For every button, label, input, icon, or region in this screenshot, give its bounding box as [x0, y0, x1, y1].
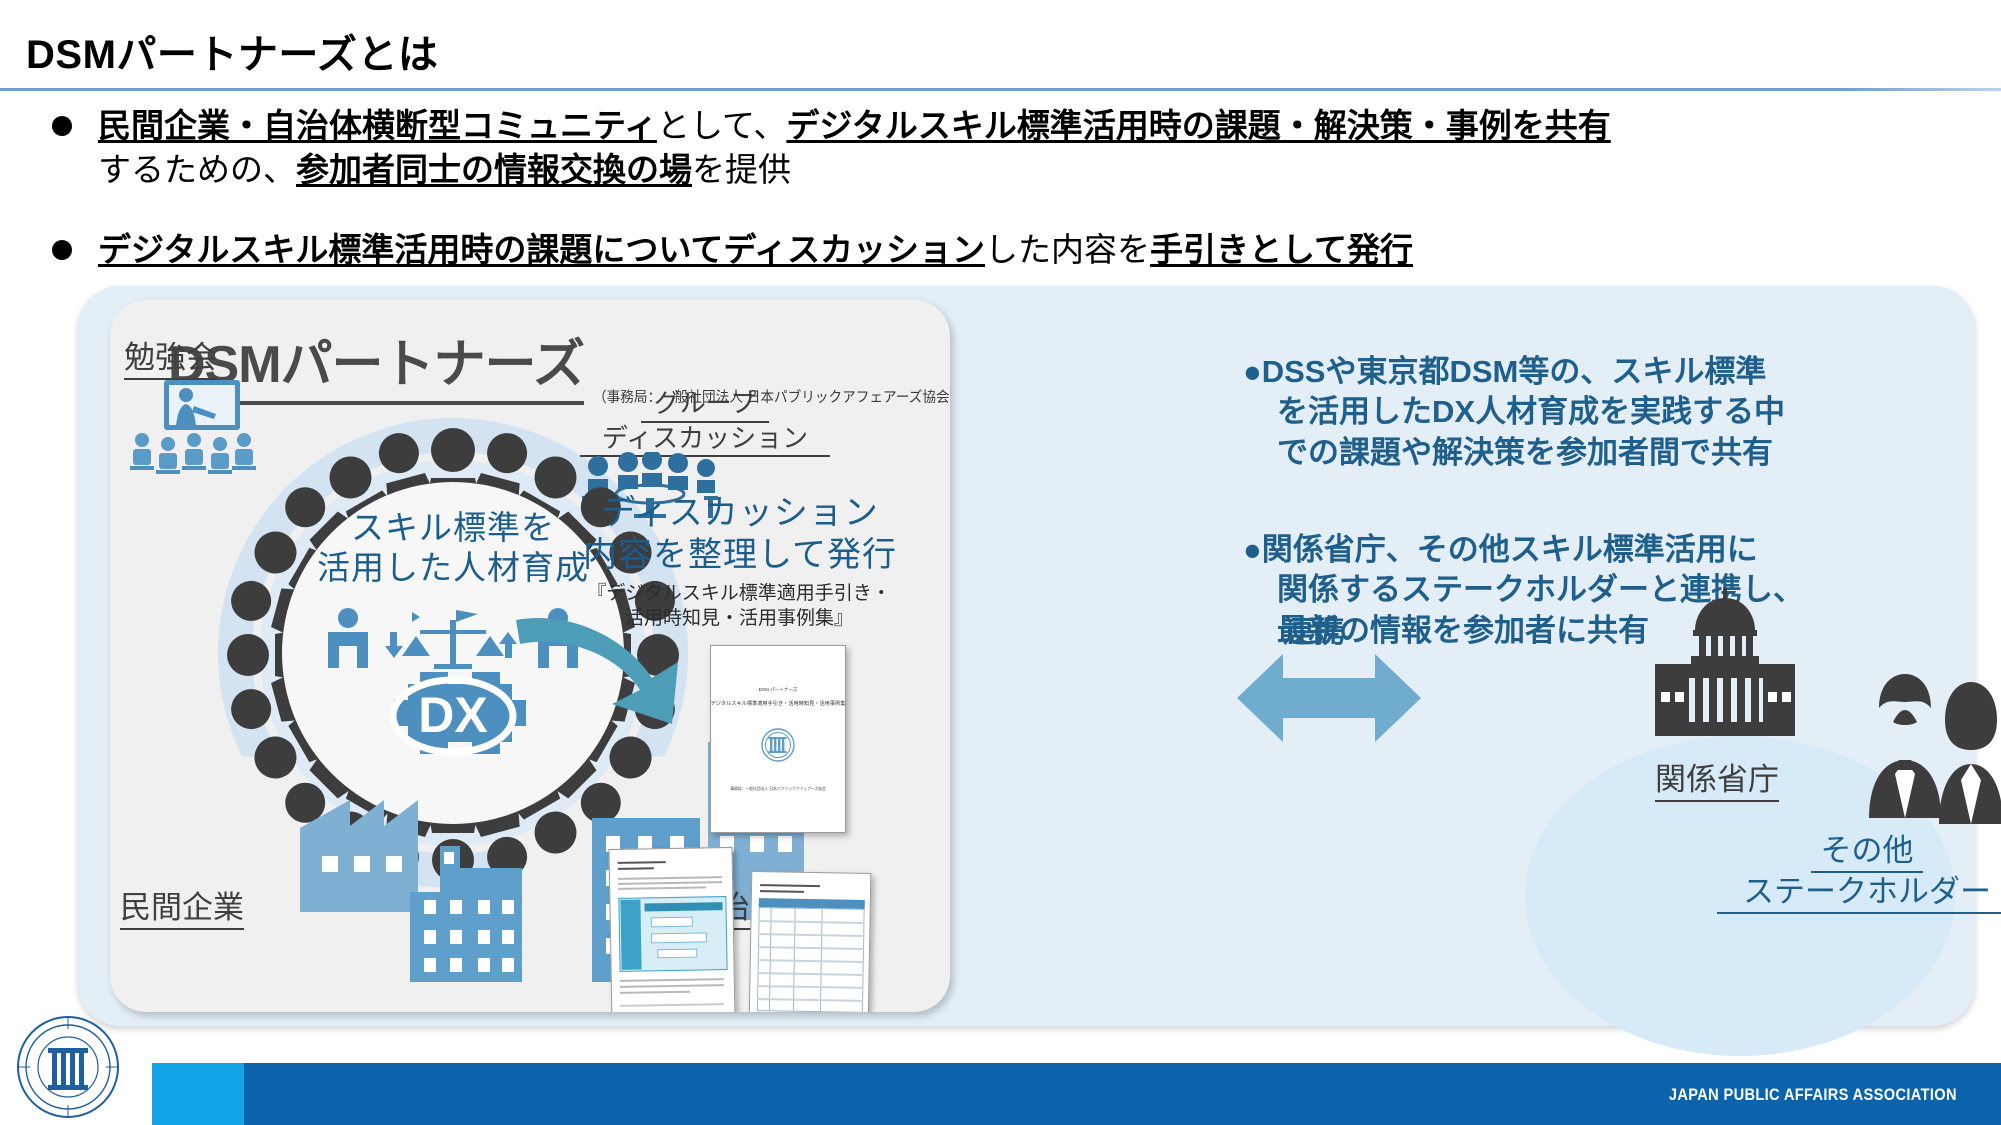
- association-seal-icon: [761, 728, 795, 762]
- capitol-building-icon: [1639, 588, 1811, 748]
- document-cover: DSM パートナーズ デジタルスキル標準適用手引き・活用時知見・活用事例集 事務…: [710, 645, 846, 833]
- bullet-1-body: 民間企業・自治体横断型コミュニティとして、デジタルスキル標準活用時の課題・解決策…: [98, 104, 1611, 191]
- bullet-2-seg-3: 手引きとして発行: [1150, 231, 1413, 268]
- publication-heading-line2: 内容を整理して発行: [530, 534, 950, 576]
- dsm-partners-card: DSMパートナーズ （事務局：一般社団法人 日本パブリックアフェアーズ協会） 勉…: [110, 300, 950, 1012]
- label-other-stakeholders-line1: その他: [1811, 832, 1923, 873]
- bullet-2-body: デジタルスキル標準活用時の課題についてディスカッションした内容を手引きとして発行: [98, 228, 1413, 272]
- footer-organization-name: JAPAN PUBLIC AFFAIRS ASSOCIATION: [1669, 1085, 1957, 1105]
- bullet-2-line-1: デジタルスキル標準活用時の課題についてディスカッションした内容を手引きとして発行: [98, 228, 1413, 272]
- label-other-stakeholders: その他 ステークホルダー: [1717, 832, 2001, 914]
- right-bullet-1-line2: を活用したDX人材育成を実践する中: [1243, 392, 1785, 432]
- publication-heading-line1: ディスカッション: [530, 492, 950, 534]
- factory-icon: [300, 770, 418, 912]
- bullet-1-line-2: するための、参加者同士の情報交換の場を提供: [98, 148, 1611, 192]
- building-mid-icon: [410, 822, 522, 982]
- bullet-1-line-1: 民間企業・自治体横断型コミュニティとして、デジタルスキル標準活用時の課題・解決策…: [98, 104, 1611, 148]
- association-logo-icon: [14, 1013, 122, 1121]
- doc-cover-line1: DSM パートナーズ: [759, 687, 798, 693]
- page-title: DSMパートナーズとは: [26, 22, 438, 80]
- document-page-table: [749, 871, 872, 1012]
- publication-heading: ディスカッション 内容を整理して発行: [530, 492, 950, 576]
- bullet-item-1: 民間企業・自治体横断型コミュニティとして、デジタルスキル標準活用時の課題・解決策…: [52, 104, 1611, 191]
- right-info-column: ●DSSや東京都DSM等の、スキル標準 を活用したDX人材育成を実践する中 での…: [1235, 296, 1975, 1022]
- bullet-2-seg-1: デジタルスキル標準活用時の課題についてディスカッション: [98, 231, 985, 268]
- bullet-1-seg-2: として、: [657, 107, 786, 144]
- label-private-companies: 民間企業: [120, 882, 244, 930]
- dx-gear-label: DX: [418, 687, 487, 743]
- slide-root: DSMパートナーズとは 民間企業・自治体横断型コミュニティとして、デジタルスキル…: [0, 0, 2001, 1125]
- label-study-session: 勉強会: [124, 332, 217, 380]
- bullet-1-seg-1: 民間企業・自治体横断型コミュニティ: [98, 107, 657, 144]
- bullet-1-seg-4: するための、: [98, 151, 296, 188]
- label-related-ministries: 関係省庁: [1655, 754, 1779, 802]
- bullet-item-2: デジタルスキル標準活用時の課題についてディスカッションした内容を手引きとして発行: [52, 228, 1413, 272]
- curved-arrow-icon: [510, 604, 700, 734]
- footer-accent-block: [152, 1063, 244, 1125]
- booklet-title-line1: 『デジタルスキル標準適用手引き・: [550, 582, 928, 607]
- bullet-1-seg-5: 参加者同士の情報交換の場: [296, 151, 692, 188]
- doc-cover-line3: 事務局：一般社団法人 日本パブリックアフェアーズ協会: [730, 787, 826, 792]
- right-bullet-1: ●DSSや東京都DSM等の、スキル標準 を活用したDX人材育成を実践する中 での…: [1243, 352, 1785, 473]
- bullet-1-seg-6: を提供: [692, 151, 791, 188]
- double-arrow-icon: [1237, 648, 1421, 748]
- label-other-stakeholders-line2: ステークホルダー: [1717, 873, 2001, 914]
- title-divider: [0, 88, 2001, 91]
- doc-cover-line2: デジタルスキル標準適用手引き・活用時知見・活用事例集: [711, 700, 845, 707]
- document-page-diagram: [609, 847, 736, 1012]
- right-bullet-1-line3: での課題や解決策を参加者間で共有: [1243, 433, 1785, 473]
- bullet-1-seg-3: デジタルスキル標準活用時の課題・解決策・事例を共有: [786, 107, 1610, 144]
- right-bullet-2-line1: ●関係省庁、その他スキル標準活用に: [1243, 530, 1804, 570]
- stakeholders-people-icon: [1843, 668, 2001, 828]
- bullet-marker-icon: [52, 240, 72, 260]
- label-collaboration: 連携: [1283, 606, 1345, 651]
- bullet-2-seg-2: した内容を: [985, 231, 1150, 268]
- right-bullet-1-line1: ●DSSや東京都DSM等の、スキル標準: [1243, 352, 1785, 392]
- bullet-marker-icon: [52, 116, 72, 136]
